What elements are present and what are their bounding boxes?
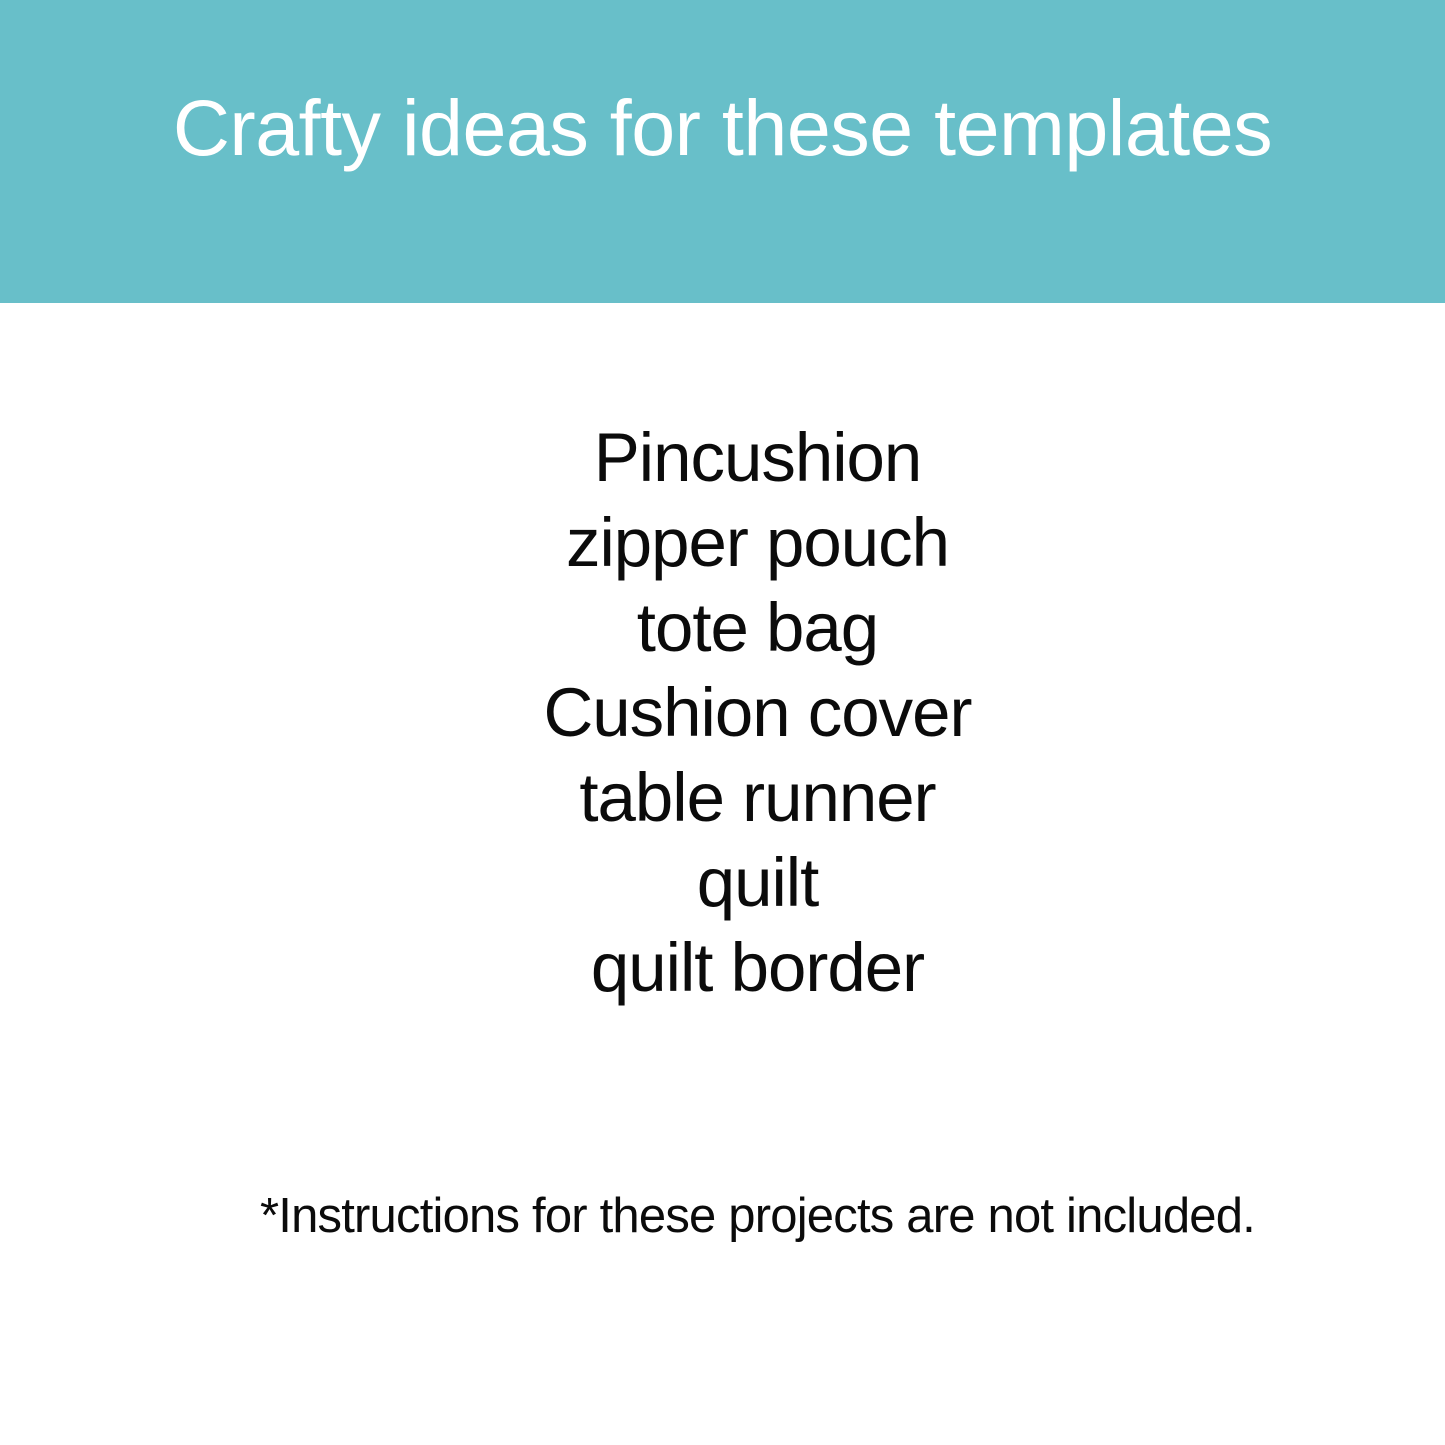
crafty-ideas-list: Pincushion zipper pouch tote bag Cushion… (0, 415, 1445, 1010)
main-content: Pincushion zipper pouch tote bag Cushion… (0, 303, 1445, 1445)
header-banner: Crafty ideas for these templates (0, 0, 1445, 303)
list-item: table runner (70, 755, 1445, 840)
list-item: Pincushion (70, 415, 1445, 500)
promo-card: Crafty ideas for these templates Pincush… (0, 0, 1445, 1445)
list-item: tote bag (70, 585, 1445, 670)
list-item: zipper pouch (70, 500, 1445, 585)
list-item: quilt border (70, 925, 1445, 1010)
disclaimer-note: *Instructions for these projects are not… (0, 1190, 1445, 1244)
list-item: quilt (70, 840, 1445, 925)
page-title: Crafty ideas for these templates (173, 88, 1272, 167)
list-item: Cushion cover (70, 670, 1445, 755)
